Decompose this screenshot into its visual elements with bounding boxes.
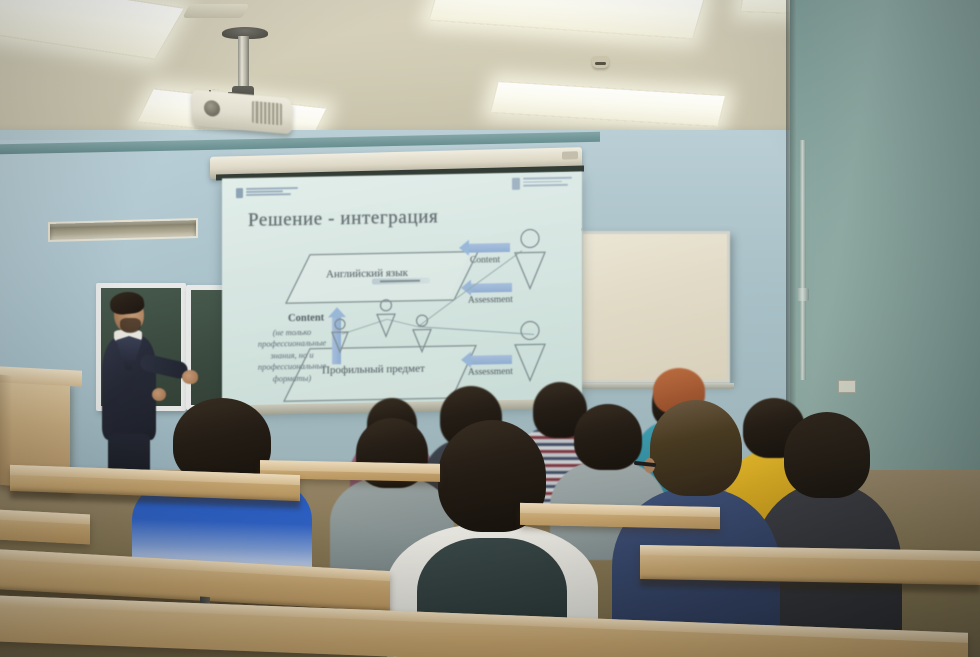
projector-mount-pole [238, 36, 249, 90]
projection-screen: Решение - интеграция Английский язык Про… [222, 172, 582, 411]
desk-row-right-back [520, 503, 720, 529]
wall-socket [838, 380, 856, 393]
smoke-detector-icon [592, 56, 609, 68]
projector-vent [252, 101, 282, 126]
ceiling-vent [182, 4, 249, 18]
projector-lens-icon [204, 100, 220, 117]
presentation-slide: Решение - интеграция Английский язык Про… [222, 172, 582, 411]
ceiling-light-panel [490, 81, 726, 127]
ceiling-light-panel [428, 0, 705, 39]
whiteboard [580, 231, 730, 383]
slide-person-icons-group [222, 172, 582, 411]
ceiling-light-panel [0, 0, 185, 60]
wall-recessed-shelf [48, 218, 198, 242]
wall-pipe [800, 140, 806, 380]
wall-pipe-joint [797, 288, 809, 301]
presenter-hand [182, 370, 198, 384]
lecture-hall-photo: Решение - интеграция Английский язык Про… [0, 0, 980, 657]
desk-row-right-front [640, 545, 980, 585]
desk-row-left-mid [0, 509, 90, 544]
